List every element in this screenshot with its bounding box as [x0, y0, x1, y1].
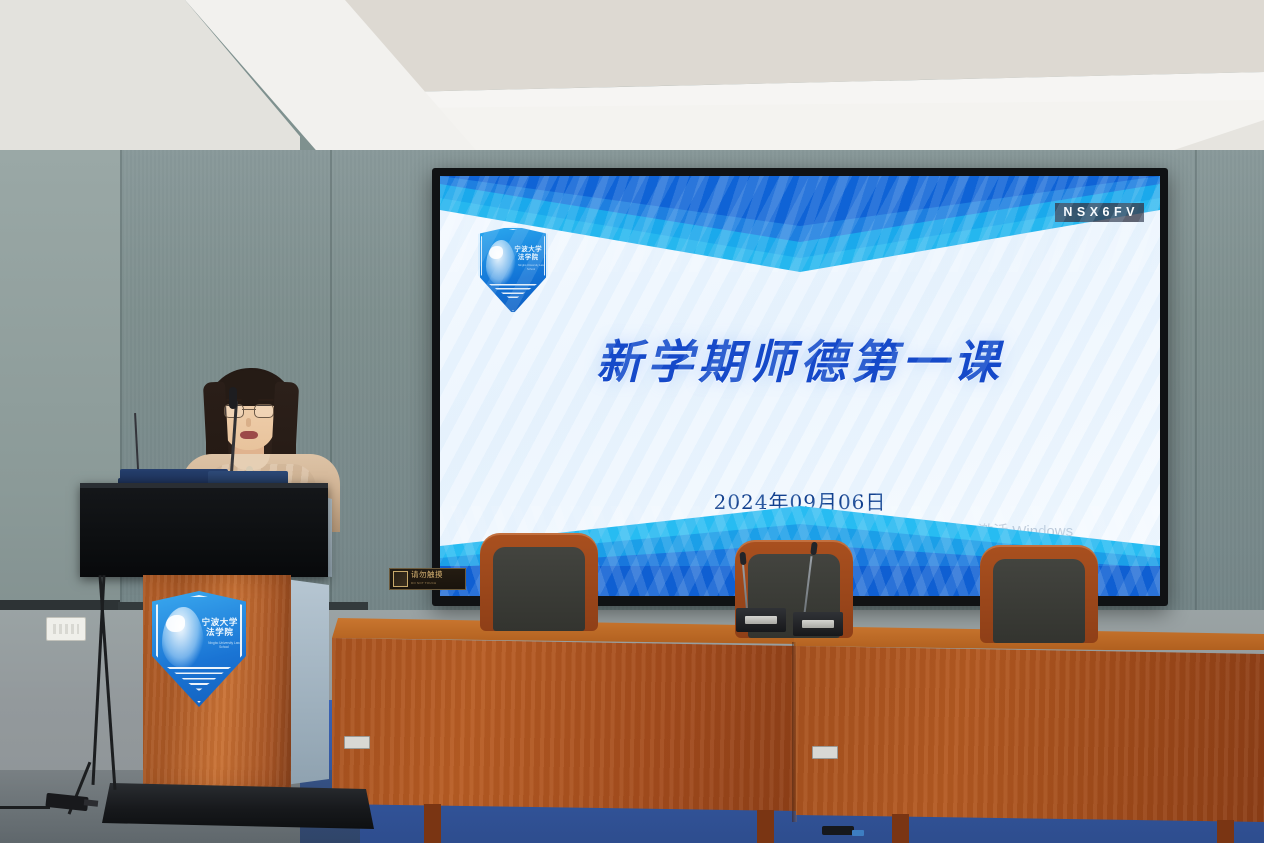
table-latch — [344, 736, 370, 749]
recorder-watermark: NSX6FV — [1055, 203, 1144, 222]
lectern: 宁波大学 法学院 Ningbo University Law School — [80, 483, 328, 843]
no-touch-icon — [393, 571, 408, 587]
slide-chevron-texture-top — [440, 176, 1160, 272]
lectern-emblem-en: Ningbo University Law School — [207, 641, 241, 649]
wall-power-outlet[interactable] — [46, 617, 86, 641]
mic-base — [736, 608, 786, 632]
slide-emblem-en: Ningbo University Law School — [518, 264, 544, 271]
chair-backrest — [493, 547, 585, 631]
table-leg — [757, 810, 774, 843]
floor-object — [852, 830, 864, 836]
mic-badge — [802, 620, 834, 628]
table-seam — [792, 642, 797, 822]
lectern-emblem-cn: 宁波大学 法学院 — [202, 617, 238, 637]
plaque-text: 请勿触摸 DO NOT TOUCH — [411, 571, 443, 587]
floor-object — [822, 826, 854, 835]
outlet-sockets — [53, 624, 79, 634]
lectern-emblem: 宁波大学 法学院 Ningbo University Law School — [152, 591, 246, 707]
nose — [246, 418, 251, 427]
lectern-right-panel — [285, 579, 329, 785]
mic-capsule — [739, 552, 746, 565]
table-leg — [1217, 820, 1234, 843]
slide-title: 新学期师德第一课 — [440, 326, 1160, 392]
table-leg — [424, 804, 441, 843]
wood-grain — [332, 636, 800, 811]
table-latch — [812, 746, 838, 759]
conference-chair[interactable] — [980, 545, 1098, 643]
lectern-desktop-edge — [80, 483, 328, 488]
table-front-left — [332, 636, 800, 811]
table-front-right — [796, 644, 1264, 822]
glasses-lens-right — [254, 404, 274, 418]
power-cable — [0, 806, 50, 809]
slide-emblem-cn: 宁波大学 法学院 — [514, 246, 542, 261]
table-leg — [892, 814, 909, 843]
mouth — [240, 431, 258, 439]
lectern-mic-capsule — [229, 387, 237, 409]
conference-chair[interactable] — [480, 533, 598, 631]
mic-base — [793, 612, 843, 636]
slide-emblem: 宁波大学 法学院 Ningbo University Law School — [478, 226, 548, 314]
mic-badge — [745, 616, 777, 624]
wood-grain — [796, 644, 1264, 822]
lectern-base — [102, 783, 374, 829]
chair-backrest — [993, 559, 1085, 643]
plaque-text-en: DO NOT TOUCH — [411, 579, 443, 587]
wall-plaque: 请勿触摸 DO NOT TOUCH — [389, 568, 466, 590]
dragon-icon — [486, 240, 516, 286]
lectern-desktop — [80, 483, 328, 577]
glasses-bridge — [242, 409, 256, 410]
ceiling — [0, 0, 1264, 172]
conference-table — [332, 618, 1264, 843]
photo-scene: 宁波大学 法学院 Ningbo University Law School 新学… — [0, 0, 1264, 843]
